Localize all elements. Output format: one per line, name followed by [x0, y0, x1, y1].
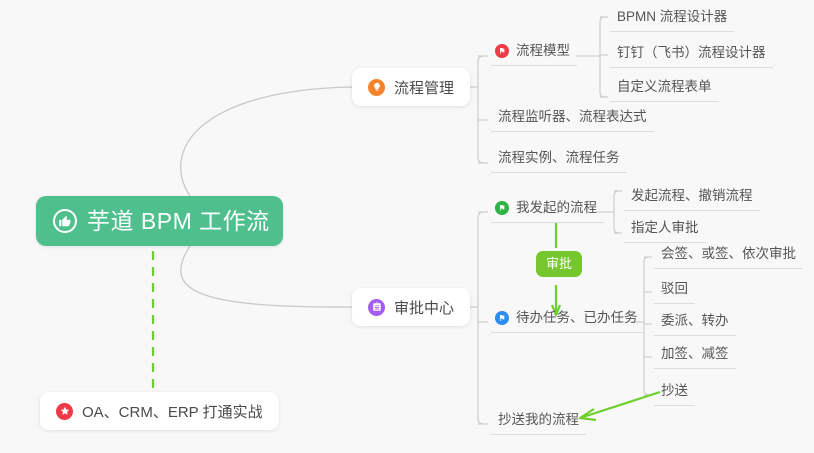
node-label: 抄送 — [661, 382, 688, 400]
clipboard-icon — [368, 299, 385, 316]
node-label: 钉钉（飞书）流程设计器 — [617, 44, 766, 62]
node-add-remove-signer[interactable]: 加签、减签 — [654, 345, 736, 369]
node-cc-to-me[interactable]: 抄送我的流程 — [491, 411, 586, 435]
node-signature-types[interactable]: 会签、或签、依次审批 — [654, 245, 803, 269]
node-bpmn-designer[interactable]: BPMN 流程设计器 — [610, 8, 734, 32]
node-dingtalk-designer[interactable]: 钉钉（飞书）流程设计器 — [610, 44, 773, 68]
node-label: 会签、或签、依次审批 — [661, 245, 796, 263]
branch-process-management[interactable]: 流程管理 — [352, 68, 470, 106]
node-label: 流程实例、流程任务 — [498, 149, 620, 167]
flag-icon — [495, 44, 509, 58]
node-label: 流程监听器、流程表达式 — [498, 108, 647, 126]
node-label: 待办任务、已办任务 — [516, 309, 638, 327]
thumbs-up-icon — [53, 209, 77, 233]
root-label: 芋道 BPM 工作流 — [87, 210, 270, 233]
mindmap-canvas: 芋道 BPM 工作流 流程管理 审批中心 OA、CRM、ERP 打通实战 — [0, 0, 814, 453]
node-label: 抄送我的流程 — [498, 411, 579, 429]
flag-icon — [495, 201, 509, 215]
node-label: 自定义流程表单 — [617, 78, 712, 96]
flag-icon — [495, 311, 509, 325]
floating-node-integration[interactable]: OA、CRM、ERP 打通实战 — [40, 392, 279, 430]
node-start-cancel-process[interactable]: 发起流程、撤销流程 — [624, 187, 760, 211]
node-process-model[interactable]: 流程模型 — [491, 42, 577, 66]
floating-node-label: OA、CRM、ERP 打通实战 — [82, 401, 263, 422]
node-process-instance[interactable]: 流程实例、流程任务 — [491, 149, 627, 173]
branch-label: 流程管理 — [394, 77, 454, 98]
badge-label: 审批 — [546, 256, 572, 271]
branch-approval-center[interactable]: 审批中心 — [352, 288, 470, 326]
node-delegate-transfer[interactable]: 委派、转办 — [654, 312, 736, 336]
root-node[interactable]: 芋道 BPM 工作流 — [36, 196, 283, 246]
node-cc[interactable]: 抄送 — [654, 382, 695, 406]
node-assignee-approval[interactable]: 指定人审批 — [624, 219, 706, 243]
node-label: 我发起的流程 — [516, 199, 597, 217]
node-label: 发起流程、撤销流程 — [631, 187, 753, 205]
node-label: 流程模型 — [516, 42, 570, 60]
approval-badge[interactable]: 审批 — [536, 251, 582, 277]
node-label: 委派、转办 — [661, 312, 729, 330]
branch-label: 审批中心 — [394, 297, 454, 318]
node-custom-form[interactable]: 自定义流程表单 — [610, 78, 719, 102]
node-reject[interactable]: 驳回 — [654, 280, 695, 304]
node-my-started-processes[interactable]: 我发起的流程 — [491, 199, 604, 223]
node-todo-done-tasks[interactable]: 待办任务、已办任务 — [491, 309, 645, 333]
node-label: 指定人审批 — [631, 219, 699, 237]
node-label: 加签、减签 — [661, 345, 729, 363]
red-star-icon — [56, 403, 73, 420]
node-process-listener[interactable]: 流程监听器、流程表达式 — [491, 108, 654, 132]
node-label: BPMN 流程设计器 — [617, 8, 727, 26]
lightbulb-icon — [368, 79, 385, 96]
node-label: 驳回 — [661, 280, 688, 298]
